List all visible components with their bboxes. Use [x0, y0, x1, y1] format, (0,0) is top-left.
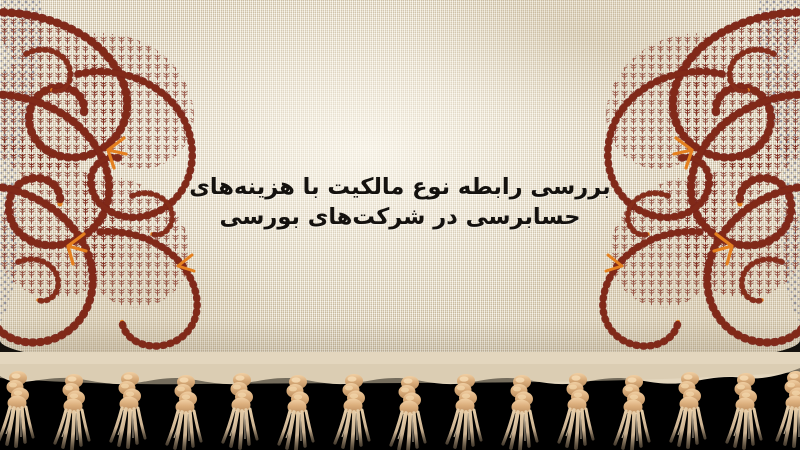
title-line-2: حسابرسی در شرکت‌های بورسی	[0, 202, 800, 232]
title-line-1: بررسی رابطه نوع مالکیت با هزینه‌های	[0, 172, 800, 202]
slide-canvas: بررسی رابطه نوع مالکیت با هزینه‌های حساب…	[0, 0, 800, 450]
slide-title: بررسی رابطه نوع مالکیت با هزینه‌های حساب…	[0, 172, 800, 232]
tassel-fringe	[0, 352, 800, 450]
